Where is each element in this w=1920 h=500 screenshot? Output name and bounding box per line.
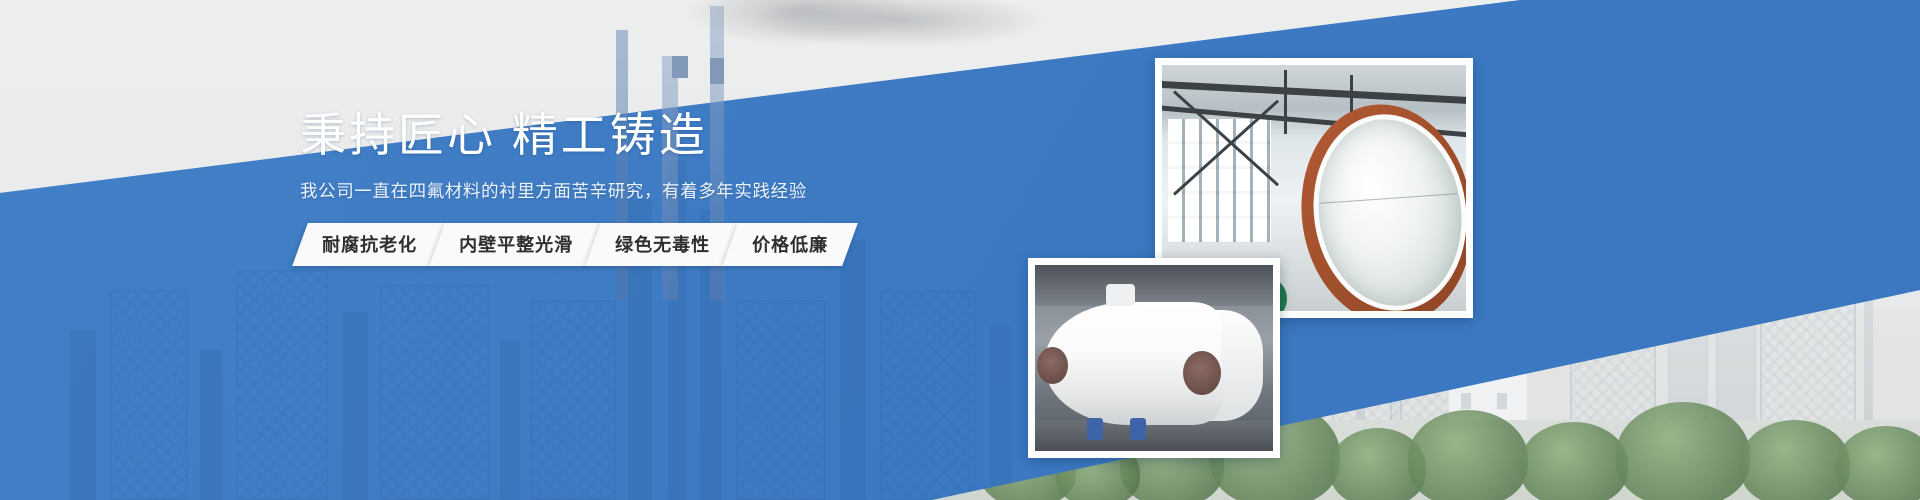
feature-pill-3-label: 绿色无毒性: [615, 231, 710, 257]
feature-pill-1[interactable]: 耐腐抗老化: [292, 223, 447, 266]
feature-pill-3[interactable]: 绿色无毒性: [585, 223, 740, 266]
product-photo-white-tank[interactable]: [1028, 258, 1280, 458]
tank-workshop-floor: [1035, 421, 1273, 451]
tank-support-leg-2: [1130, 418, 1146, 440]
tank-support-leg-1: [1087, 418, 1103, 440]
product-photo-white-tank-image: [1035, 265, 1273, 451]
hero-banner: 秉持匠心 精工铸造 我公司一直在四氟材料的衬里方面苦辛研究，有着多年实践经验 耐…: [0, 0, 1920, 500]
tank-workshop-roof: [1035, 265, 1273, 306]
page-subtitle: 我公司一直在四氟材料的衬里方面苦辛研究，有着多年实践经验: [300, 178, 830, 203]
feature-pill-list: 耐腐抗老化 内壁平整光滑 绿色无毒性 价格低廉: [300, 223, 830, 266]
hero-copy: 秉持匠心 精工铸造 我公司一直在四氟材料的衬里方面苦辛研究，有着多年实践经验 耐…: [300, 108, 830, 266]
tank-top-nozzle: [1106, 284, 1135, 306]
feature-pill-4[interactable]: 价格低廉: [722, 223, 858, 266]
tank-side-nozzle: [1183, 351, 1221, 396]
feature-pill-2-label: 内壁平整光滑: [459, 231, 573, 257]
feature-pill-4-label: 价格低廉: [752, 231, 828, 257]
page-title: 秉持匠心 精工铸造: [300, 108, 830, 162]
feature-pill-2[interactable]: 内壁平整光滑: [429, 223, 603, 266]
feature-pill-1-label: 耐腐抗老化: [322, 231, 417, 257]
